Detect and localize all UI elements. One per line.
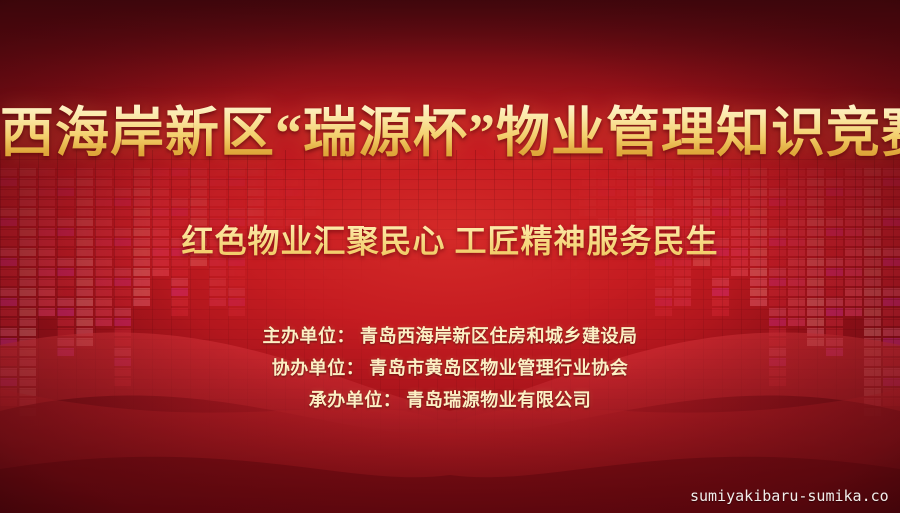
poster-subtitle: 红色物业汇聚民心 工匠精神服务民生 [0,221,900,261]
watermark-text: sumiyakibaru-sumika.co [690,486,889,506]
poster-content: 西海岸新区“瑞源杯”物业管理知识竞赛 红色物业汇聚民心 工匠精神服务民生 主办单… [0,0,900,513]
site-watermark: sumiyakibaru-sumika.co [690,486,900,508]
poster-canvas: 西海岸新区“瑞源杯”物业管理知识竞赛 红色物业汇聚民心 工匠精神服务民生 主办单… [0,0,900,513]
organizer-line-host: 主办单位： 青岛西海岸新区住房和城乡建设局 [0,320,900,352]
organizer-line-co-host: 协办单位： 青岛市黄岛区物业管理行业协会 [0,352,900,384]
organizer-line-organizer: 承办单位： 青岛瑞源物业有限公司 [0,384,900,416]
poster-title: 西海岸新区“瑞源杯”物业管理知识竞赛 [0,102,900,164]
organizer-list: 主办单位： 青岛西海岸新区住房和城乡建设局 协办单位： 青岛市黄岛区物业管理行业… [0,320,900,416]
